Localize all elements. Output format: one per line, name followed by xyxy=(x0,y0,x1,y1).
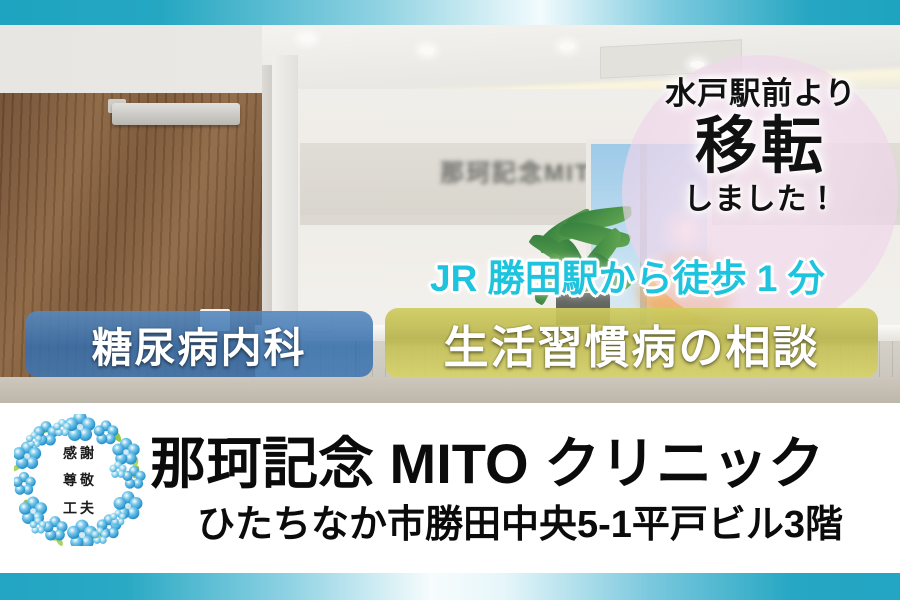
top-accent-band xyxy=(0,0,900,25)
clinic-info-panel: 感謝 尊敬 工夫 那珂記念 MITO クリニック ひたちなか市勝田中央5-1平戸… xyxy=(0,403,900,573)
logo-word-3: 工夫 xyxy=(14,496,146,523)
badge-lifestyle: 生活習慣病の相談 xyxy=(385,308,878,378)
relocation-done-label: しました！ xyxy=(630,183,892,216)
downlight xyxy=(420,47,434,54)
clinic-banner: 那珂記念MITOクリニック xyxy=(0,0,900,600)
badge-diabetes-label: 糖尿病内科 xyxy=(92,314,307,374)
relocation-headline: 移転 xyxy=(630,113,892,181)
clinic-address: ひたちなか市勝田中央5-1平戸ビル3階 xyxy=(150,493,890,548)
downlight xyxy=(300,35,314,42)
badge-diabetes: 糖尿病内科 xyxy=(25,311,373,377)
logo-word-2: 尊敬 xyxy=(14,468,146,495)
relocation-from-label: 水戸駅前より xyxy=(630,78,892,111)
flower-wreath-logo: 感謝 尊敬 工夫 xyxy=(14,414,146,546)
clinic-name: 那珂記念 MITO クリニック xyxy=(150,419,890,500)
relocation-notice: 水戸駅前より 移転 しました！ xyxy=(630,78,892,216)
badge-lifestyle-label: 生活習慣病の相談 xyxy=(443,311,819,376)
access-info-text: JR 勝田駅から徒歩 1 分 xyxy=(430,248,890,302)
bottom-accent-band xyxy=(0,573,900,600)
downlight xyxy=(560,43,574,50)
door-closer xyxy=(112,103,240,125)
floor xyxy=(0,377,900,403)
logo-motto: 感謝 尊敬 工夫 xyxy=(14,441,146,523)
logo-word-1: 感謝 xyxy=(14,441,146,468)
